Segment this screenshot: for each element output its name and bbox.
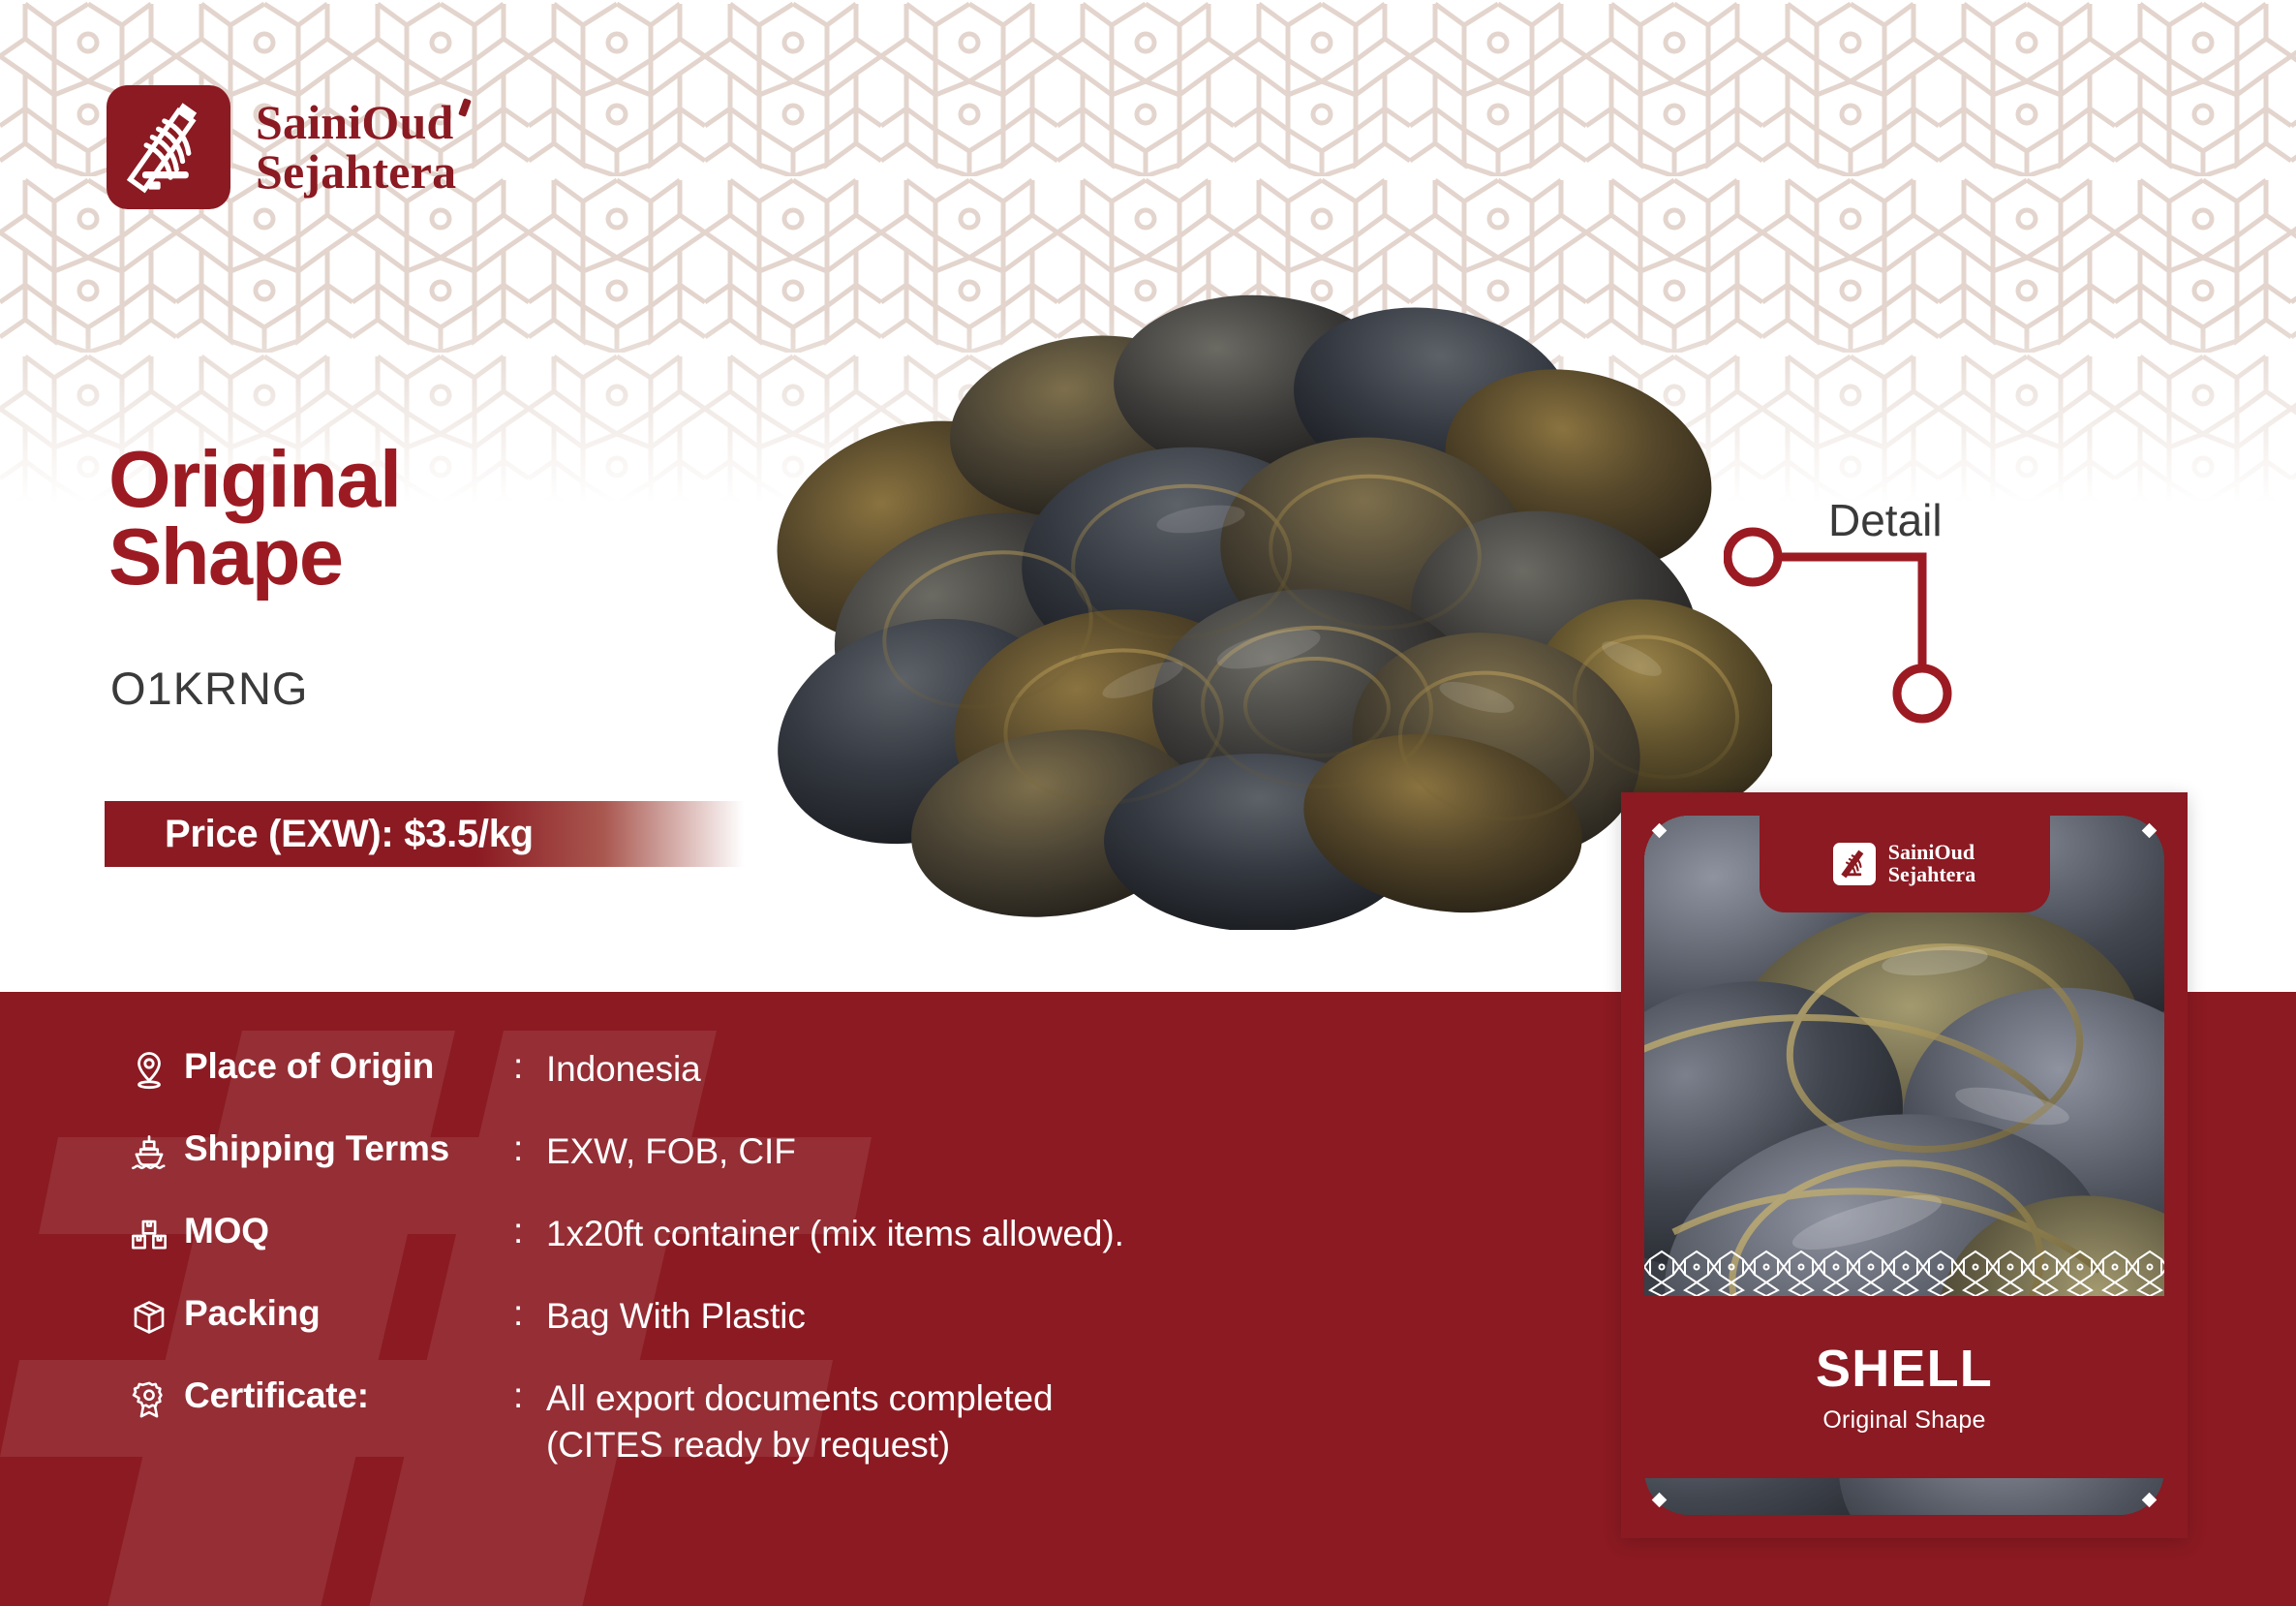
brand-accent-tick: [458, 98, 472, 117]
card-brand-line1: SainiOud: [1888, 842, 1975, 864]
brand-wordmark: SainiOud Sejahtera: [256, 98, 456, 197]
card-footer: SHELL Original Shape: [1644, 1296, 2164, 1478]
spec-row-shipping-terms: Shipping Terms : EXW, FOB, CIF: [114, 1128, 1124, 1211]
location-pin-icon: [114, 1046, 184, 1091]
price-badge-label: Price (EXW): $3.5/kg: [105, 813, 534, 856]
package-box-icon: [114, 1293, 184, 1338]
spec-list: Place of Origin : Indonesia Shipping Ter…: [114, 1046, 1124, 1468]
spec-label: Packing: [184, 1293, 513, 1335]
spec-separator: :: [513, 1046, 546, 1088]
card-brand-line2: Sejahtera: [1888, 864, 1975, 886]
hero-product-photo: [600, 242, 1772, 930]
spec-value: Indonesia: [546, 1046, 701, 1093]
card-corner-top-left: [1644, 816, 1689, 860]
card-ornament-strip: [1644, 1250, 2164, 1296]
card-footer-subtitle: Original Shape: [1822, 1408, 1985, 1433]
spec-value: 1x20ft container (mix items allowed).: [546, 1211, 1124, 1257]
spec-row-certificate: Certificate: : All export documents comp…: [114, 1375, 1124, 1468]
spec-separator: :: [513, 1293, 546, 1335]
price-badge: Price (EXW): $3.5/kg: [105, 801, 744, 867]
spec-label: Shipping Terms: [184, 1128, 513, 1170]
spec-value: All export documents completed (CITES re…: [546, 1375, 1054, 1468]
spec-label: Place of Origin: [184, 1046, 513, 1088]
detail-card-inner: SHELL Original Shape SainiOud Sejahter: [1644, 816, 2164, 1515]
card-brand-wordmark: SainiOud Sejahtera: [1888, 842, 1975, 886]
card-footer-title: SHELL: [1816, 1343, 1993, 1395]
brand-name-line1: SainiOud: [256, 98, 456, 147]
spec-separator: :: [513, 1211, 546, 1252]
detail-callout: Detail: [1724, 513, 1975, 726]
detail-card: SHELL Original Shape SainiOud Sejahter: [1621, 792, 2188, 1538]
certificate-rosette-icon: [114, 1375, 184, 1420]
oud-incense-mark-icon: [107, 85, 230, 209]
product-title-line1: Original: [108, 441, 401, 518]
product-title-line2: Shape: [108, 518, 401, 596]
product-sku-code: O1KRNG: [110, 662, 309, 715]
oud-incense-mark-icon: [1833, 843, 1876, 885]
spec-row-packing: Packing : Bag With Plastic: [114, 1293, 1124, 1375]
spec-row-moq: MOQ : 1x20ft container (mix items allowe…: [114, 1211, 1124, 1293]
detail-callout-label: Detail: [1828, 494, 1943, 546]
card-corner-top-right: [2120, 816, 2164, 860]
stacked-boxes-icon: [114, 1211, 184, 1255]
brand-name-line2: Sejahtera: [256, 147, 456, 197]
spec-separator: :: [513, 1128, 546, 1170]
card-logo-tab: SainiOud Sejahtera: [1760, 816, 2050, 912]
spec-value: Bag With Plastic: [546, 1293, 806, 1340]
page-title: Original Shape: [108, 441, 401, 595]
brand-lockup: SainiOud Sejahtera: [107, 85, 456, 209]
spec-separator: :: [513, 1375, 546, 1417]
spec-label: MOQ: [184, 1211, 513, 1252]
spec-value: EXW, FOB, CIF: [546, 1128, 796, 1175]
spec-label: Certificate:: [184, 1375, 513, 1417]
spec-row-place-of-origin: Place of Origin : Indonesia: [114, 1046, 1124, 1128]
ship-icon: [114, 1128, 184, 1173]
